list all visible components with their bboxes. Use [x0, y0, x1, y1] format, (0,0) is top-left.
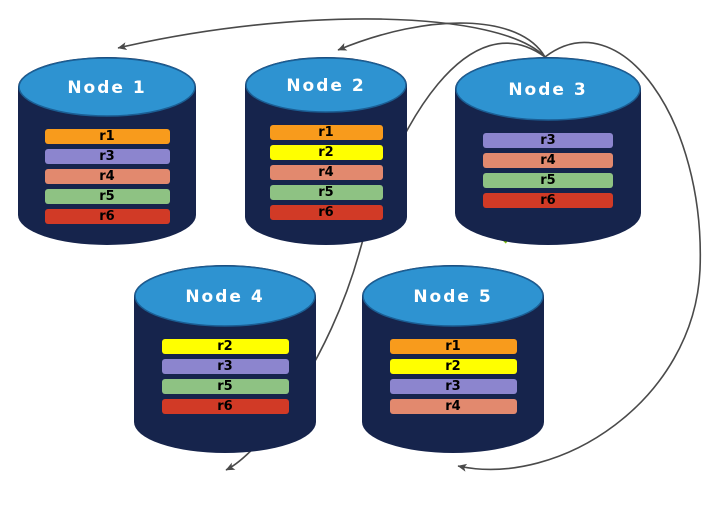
- replica-row[interactable]: r5: [45, 189, 170, 204]
- cylinder-top: [19, 58, 195, 116]
- replica-row[interactable]: r6: [483, 193, 613, 208]
- diagram-canvas: Node 1r1r3r4r5r6Node 2r1r2r4r5r6Node 3r3…: [0, 0, 708, 508]
- replica-row[interactable]: r4: [270, 165, 383, 180]
- node-row-list: r1r3r4r5r6: [18, 129, 196, 229]
- replica-row[interactable]: r3: [390, 379, 517, 394]
- node-3[interactable]: Node 3r3r4r5r6: [455, 57, 641, 245]
- replica-row[interactable]: r2: [270, 145, 383, 160]
- replica-row[interactable]: r2: [390, 359, 517, 374]
- replica-row[interactable]: r5: [483, 173, 613, 188]
- replica-row[interactable]: r6: [162, 399, 289, 414]
- node-1[interactable]: Node 1r1r3r4r5r6: [18, 57, 196, 245]
- node-row-list: r2r3r5r6: [134, 339, 316, 419]
- replica-row[interactable]: r1: [270, 125, 383, 140]
- node-5[interactable]: Node 5r1r2r3r4: [362, 265, 544, 453]
- node-row-list: r1r2r4r5r6: [245, 125, 407, 225]
- replica-row[interactable]: r1: [45, 129, 170, 144]
- cylinder-top: [363, 266, 543, 326]
- replica-row[interactable]: r1: [390, 339, 517, 354]
- replica-row[interactable]: r4: [483, 153, 613, 168]
- node-row-list: r3r4r5r6: [455, 133, 641, 213]
- replica-row[interactable]: r5: [162, 379, 289, 394]
- cylinder-top: [246, 58, 406, 112]
- replica-row[interactable]: r3: [45, 149, 170, 164]
- node-4[interactable]: Node 4r2r3r5r6: [134, 265, 316, 453]
- replica-row[interactable]: r4: [390, 399, 517, 414]
- node-row-list: r1r2r3r4: [362, 339, 544, 419]
- cylinder-top: [135, 266, 315, 326]
- replica-row[interactable]: r6: [270, 205, 383, 220]
- replica-row[interactable]: r5: [270, 185, 383, 200]
- replica-row[interactable]: r6: [45, 209, 170, 224]
- node-layer: Node 1r1r3r4r5r6Node 2r1r2r4r5r6Node 3r3…: [0, 0, 708, 508]
- replica-row[interactable]: r3: [162, 359, 289, 374]
- replica-row[interactable]: r3: [483, 133, 613, 148]
- node-2[interactable]: Node 2r1r2r4r5r6: [245, 57, 407, 245]
- cylinder-top: [456, 58, 640, 120]
- replica-row[interactable]: r4: [45, 169, 170, 184]
- replica-row[interactable]: r2: [162, 339, 289, 354]
